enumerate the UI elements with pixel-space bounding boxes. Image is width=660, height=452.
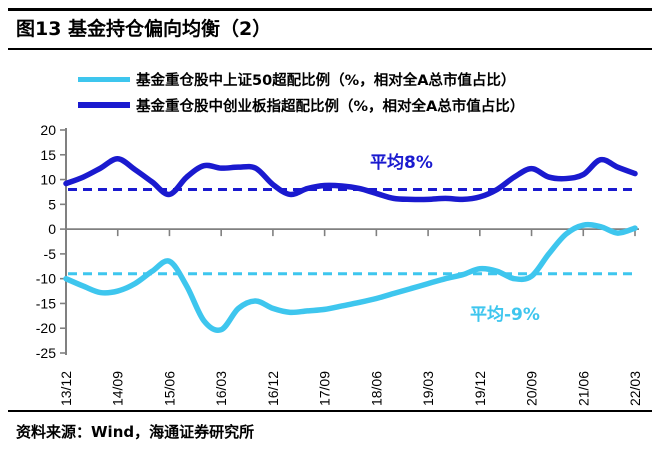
y-axis-tick-label: 5 [48,196,56,212]
y-axis-tick-label: 10 [40,172,56,188]
legend-item-sse50: 基金重仓股中上证50超配比例（%，相对全A总市值占比） [78,66,638,92]
x-axis-tick-label: 21/06 [575,371,591,406]
x-axis-tick-label: 22/03 [627,371,643,406]
line-chart: 20151050-5-10-15-20-25 13/1214/0915/0616… [0,118,660,408]
source-note: 资料来源：Wind，海通证券研究所 [16,421,254,442]
legend-swatch-sse50 [78,77,130,82]
x-axis: 13/1214/0915/0616/0316/1217/0918/0619/03… [58,229,643,406]
x-axis-tick-label: 13/12 [58,371,74,406]
figure-container: 图13 基金持仓偏向均衡（2） 基金重仓股中上证50超配比例（%，相对全A总市值… [0,0,660,452]
legend-label-sse50: 基金重仓股中上证50超配比例（%，相对全A总市值占比） [136,69,515,90]
y-axis-tick-label: -10 [36,271,56,287]
x-axis-tick-label: 19/03 [420,371,436,406]
x-axis-tick-label: 14/09 [110,371,126,406]
x-axis-tick-label: 15/06 [161,371,177,406]
y-axis-tick-label: 20 [40,122,56,138]
page-title: 图13 基金持仓偏向均衡（2） [16,14,271,44]
y-axis-tick-label: -25 [36,345,56,361]
chart-plot-area: 20151050-5-10-15-20-25 13/1214/0915/0616… [0,118,660,408]
title-rule-bottom [8,48,652,50]
legend-swatch-chinext [78,102,130,108]
x-axis-tick-label: 16/03 [213,371,229,406]
series-line [66,225,635,331]
series-line [66,159,635,200]
y-axis-tick-label: 0 [48,221,56,237]
y-axis-tick-label: 15 [40,147,56,163]
chart-annotation: 平均8% [370,152,433,173]
y-axis-tick-label: -20 [36,320,56,336]
x-axis-tick-label: 19/12 [472,371,488,406]
legend-label-chinext: 基金重仓股中创业板指超配比例（%，相对全A总市值占比） [136,95,524,116]
chart-legend: 基金重仓股中上证50超配比例（%，相对全A总市值占比） 基金重仓股中创业板指超配… [78,66,638,118]
x-axis-tick-label: 17/09 [317,371,333,406]
title-rule-top [8,8,652,11]
x-axis-tick-label: 20/09 [524,371,540,406]
average-reference-lines [68,189,633,273]
y-axis-tick-label: -15 [36,295,56,311]
data-series [66,159,635,331]
chart-annotation: 平均-9% [470,304,540,325]
x-axis-tick-label: 18/06 [368,371,384,406]
x-axis-tick-label: 16/12 [265,371,281,406]
footer-rule [8,410,652,412]
legend-item-chinext: 基金重仓股中创业板指超配比例（%，相对全A总市值占比） [78,92,638,118]
y-axis-tick-label: -5 [44,246,57,262]
y-axis: 20151050-5-10-15-20-25 [36,122,66,361]
